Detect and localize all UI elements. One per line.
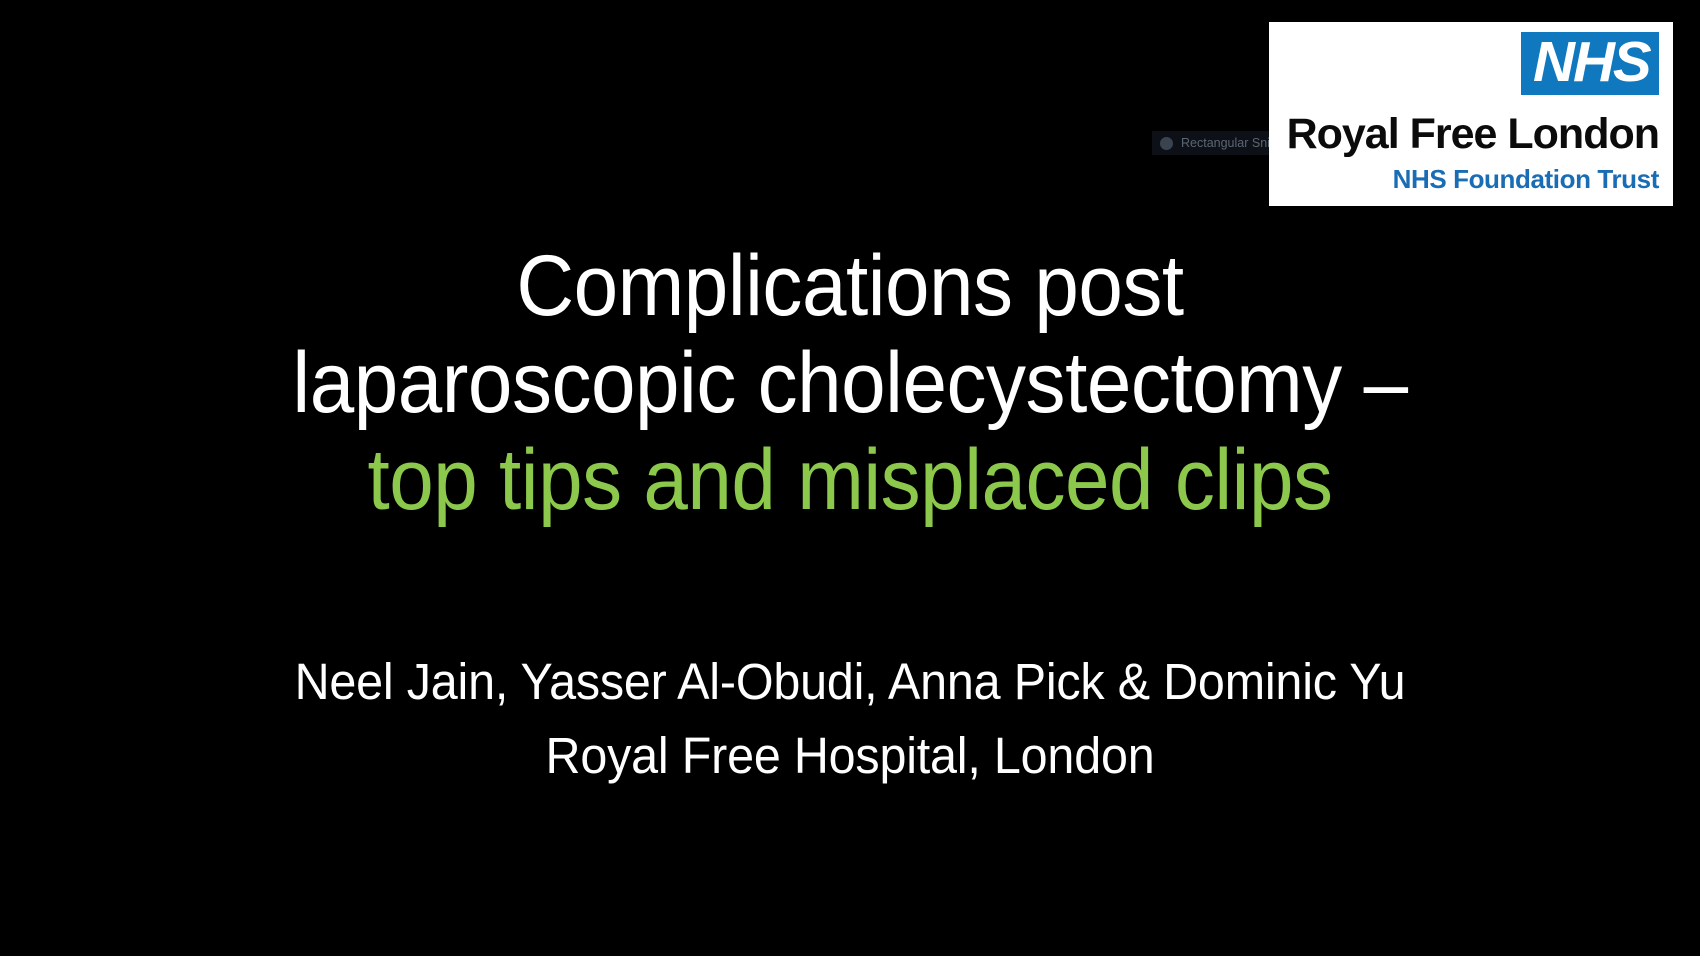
slide-title: Complications post laparoscopic cholecys… (0, 238, 1700, 530)
nhs-badge-text: NHS (1533, 34, 1650, 91)
author-names: Neel Jain, Yasser Al-Obudi, Anna Pick & … (43, 645, 1658, 719)
snipping-tool-menu-item[interactable]: Rectangular Snip (1152, 131, 1284, 155)
slide-subtitle: Neel Jain, Yasser Al-Obudi, Anna Pick & … (0, 645, 1700, 793)
record-dot-icon (1160, 137, 1173, 150)
snip-mode-label: Rectangular Snip (1181, 136, 1277, 150)
title-line-2: laparoscopic cholecystectomy – (60, 335, 1641, 432)
nhs-badge-box: NHS (1521, 32, 1659, 95)
nhs-royal-free-london-logo: NHS Royal Free London NHS Foundation Tru… (1269, 22, 1673, 206)
nhs-badge: NHS (1521, 32, 1659, 95)
author-affiliation: Royal Free Hospital, London (43, 719, 1658, 793)
title-line-3-accent: top tips and misplaced clips (60, 432, 1641, 529)
trust-name-text: Royal Free London (1281, 112, 1659, 157)
presentation-slide: Rectangular Snip NHS Royal Free London N… (0, 0, 1700, 956)
title-line-1: Complications post (60, 238, 1641, 335)
trust-subtitle-text: NHS Foundation Trust (1393, 165, 1659, 194)
